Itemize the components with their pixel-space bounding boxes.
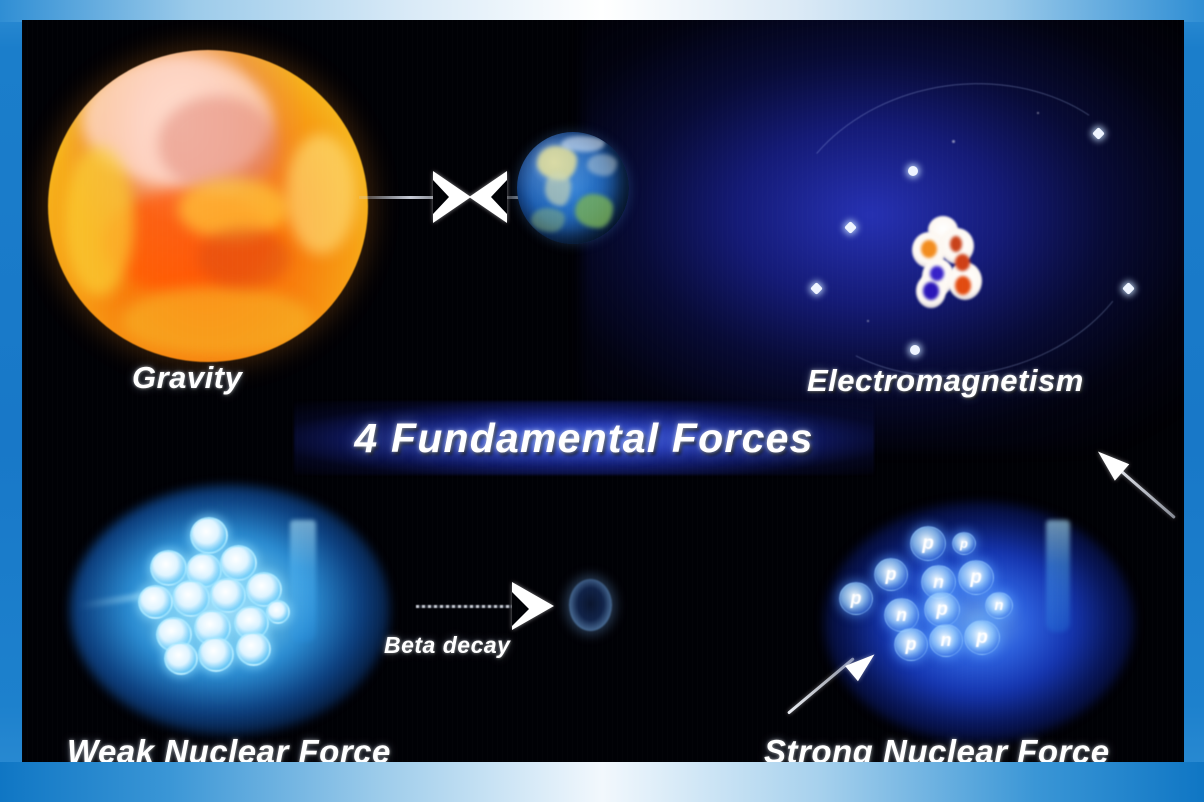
nucleon-icon: p	[952, 532, 976, 555]
nucleon-icon: p	[964, 620, 1000, 655]
nucleon-icon: p	[924, 592, 960, 627]
nucleon-icon	[138, 585, 173, 619]
nucleon-icon: p	[874, 558, 908, 591]
nucleon-icon	[236, 632, 271, 666]
nucleon-icon: n	[929, 624, 963, 657]
nucleon-icon: n	[985, 592, 1013, 619]
nucleon-icon	[164, 642, 198, 675]
test-tube-icon	[1046, 520, 1070, 632]
nucleon-icon: p	[910, 526, 946, 561]
nucleon-icon: p	[839, 582, 873, 615]
frame-edge-bottom	[0, 762, 1204, 802]
gravity-arrow-left-notch	[491, 180, 507, 214]
poster-frame: p p n p p n p p n p n p 4 Fundamental Fo…	[0, 0, 1204, 802]
label-weak-nuclear-force: Weak Nuclear Force	[67, 733, 391, 762]
strong-force-pointer-arrow-top-right	[1080, 418, 1184, 508]
test-tube-icon	[290, 520, 316, 642]
beta-decay-track	[416, 605, 522, 608]
nucleon-icon: p	[894, 628, 928, 661]
electron-icon	[910, 345, 920, 355]
gravity-arrow-right-notch	[433, 180, 449, 214]
electron-icon	[908, 166, 918, 176]
label-gravity: Gravity	[132, 360, 242, 396]
nucleon-icon	[150, 550, 187, 586]
poster-stage: p p n p p n p p n p n p 4 Fundamental Fo…	[22, 20, 1184, 762]
beta-decay-arrow-notch	[512, 592, 529, 626]
nucleon-icon: n	[884, 598, 919, 632]
nucleon-icon: p	[958, 560, 994, 595]
frame-edge-left	[0, 0, 24, 802]
atom-nucleus-icon	[912, 216, 990, 312]
earth-icon	[517, 132, 629, 244]
nucleon-icon	[266, 600, 290, 624]
nucleon-icon	[210, 578, 246, 613]
nucleon-icon	[190, 517, 228, 554]
frame-edge-top	[0, 0, 1204, 22]
sun-icon	[48, 50, 368, 362]
page-title: 4 Fundamental Forces	[294, 401, 874, 475]
emitted-particle-icon	[569, 579, 612, 631]
label-beta-decay: Beta decay	[384, 632, 510, 659]
strong-force-pointer-arrow-bottom-left	[780, 642, 890, 734]
nucleon-icon	[198, 637, 234, 672]
